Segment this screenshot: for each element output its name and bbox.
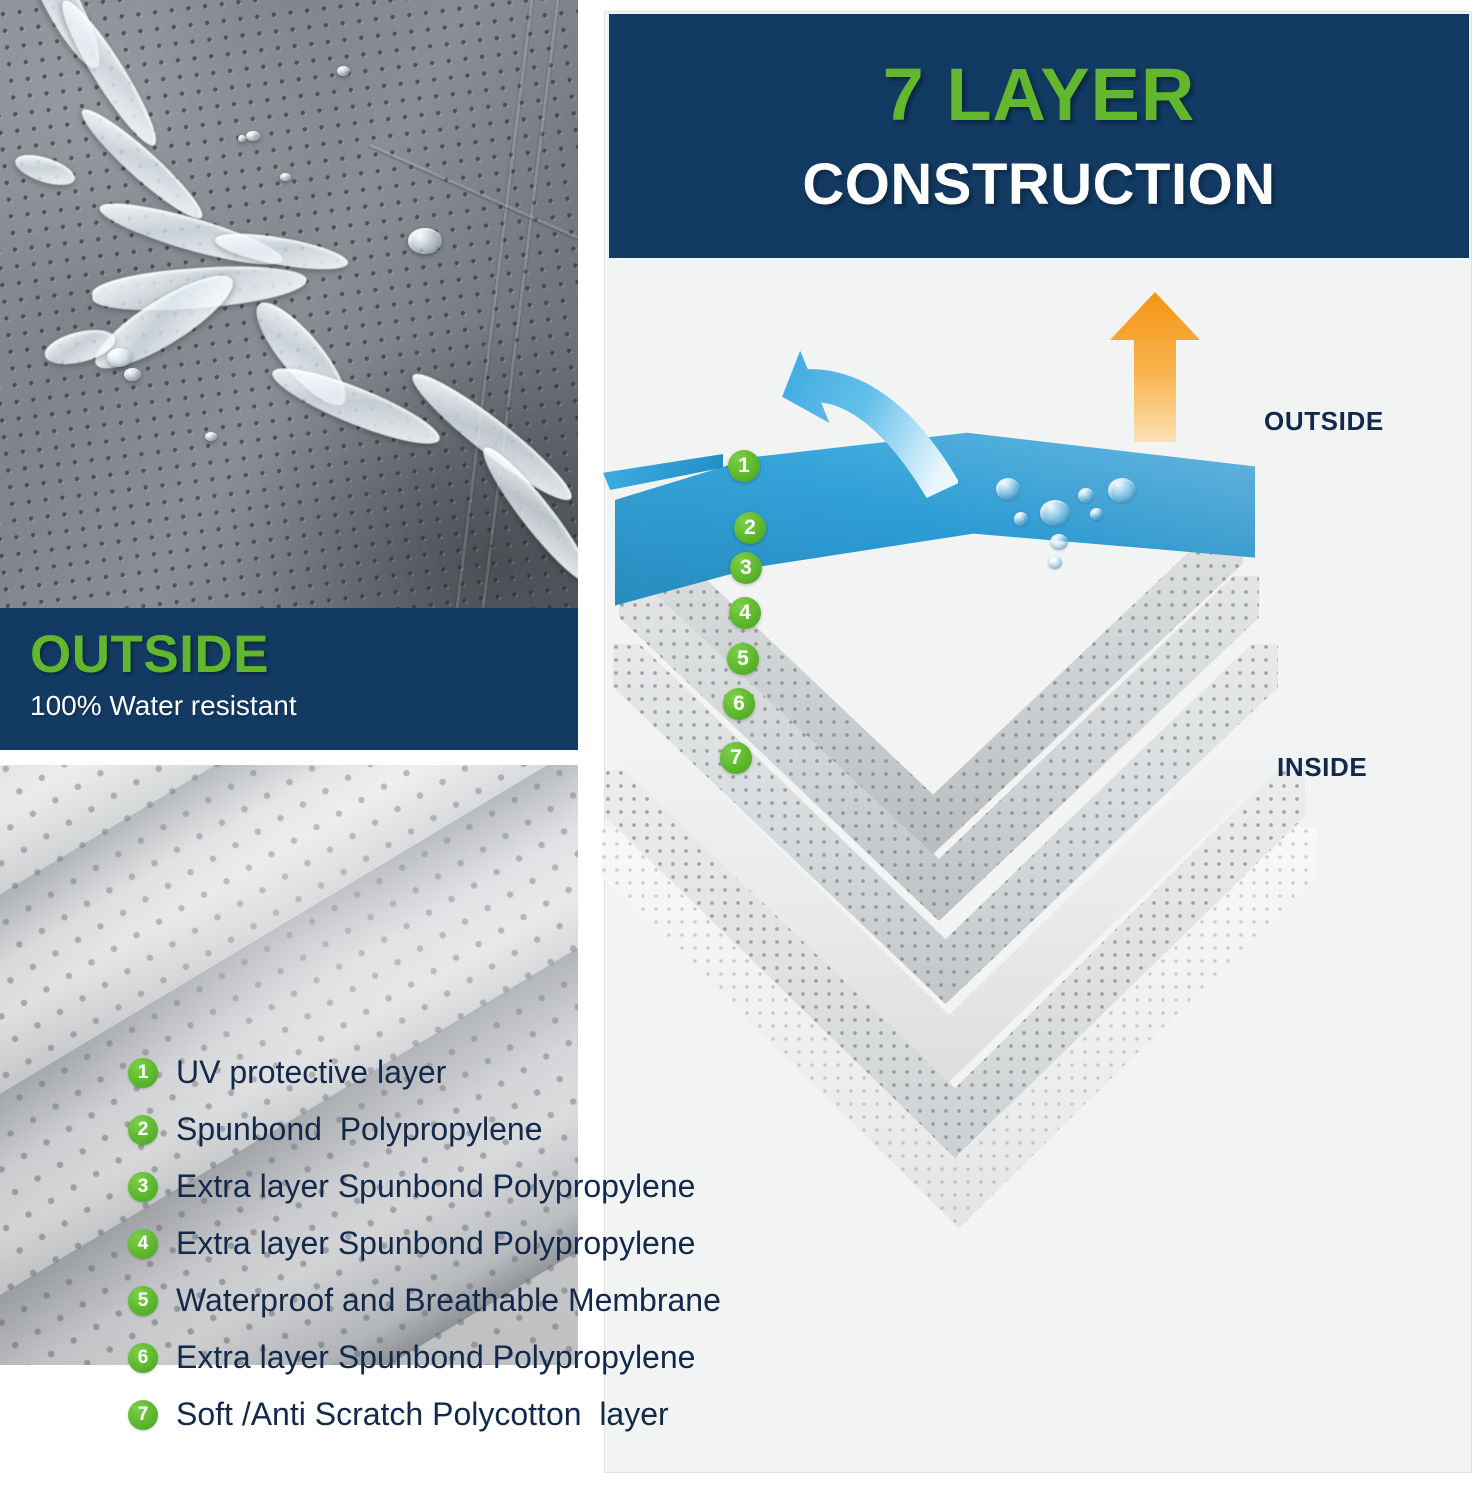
layer-legend-list: 1 UV protective layer 2 Spunbond Polypro… [128,1044,858,1443]
water-repel-arrow-icon [768,318,958,518]
legend-item: 6 Extra layer Spunbond Polypropylene [128,1329,858,1386]
water-bead [408,228,442,254]
diagram-inside-label: INSIDE [1277,752,1367,783]
layer-badge-2: 2 [734,512,766,544]
outside-title: OUTSIDE [30,628,548,681]
water-bead [205,432,217,441]
panel-header: 7 LAYER CONSTRUCTION [609,14,1469,258]
legend-label-6: Extra layer Spunbond Polypropylene [176,1339,695,1376]
header-line-1: 7 LAYER [883,58,1196,132]
legend-label-1: UV protective layer [176,1054,446,1091]
legend-item: 2 Spunbond Polypropylene [128,1101,858,1158]
legend-badge-3: 3 [128,1172,158,1202]
water-bead [246,131,260,141]
water-droplet [1050,534,1068,550]
legend-badge-7: 7 [128,1400,158,1430]
header-line-2: CONSTRUCTION [802,156,1275,214]
layer-badge-5: 5 [727,643,759,675]
water-beading-photo [0,0,578,608]
legend-label-3: Extra layer Spunbond Polypropylene [176,1168,695,1205]
water-droplet [1040,500,1070,526]
legend-item: 3 Extra layer Spunbond Polypropylene [128,1158,858,1215]
water-droplet [1078,488,1094,503]
layer-badge-1: 1 [728,450,760,482]
water-bead [280,173,291,181]
legend-item: 7 Soft /Anti Scratch Polycotton layer [128,1386,858,1443]
legend-badge-1: 1 [128,1058,158,1088]
legend-label-5: Waterproof and Breathable Membrane [176,1282,721,1319]
water-droplet [1108,478,1136,503]
legend-badge-5: 5 [128,1286,158,1316]
legend-label-4: Extra layer Spunbond Polypropylene [176,1225,695,1262]
infographic-page: OUTSIDE 100% Water resistant INSIDE Soft… [0,0,1477,1500]
water-droplet [996,478,1020,500]
layer-badge-7: 7 [720,742,752,774]
layer-badge-6: 6 [723,688,755,720]
water-bead [107,348,132,367]
gray-fabric-texture [0,0,578,608]
legend-label-7: Soft /Anti Scratch Polycotton layer [176,1396,669,1433]
legend-item: 5 Waterproof and Breathable Membrane [128,1272,858,1329]
water-droplet [1014,512,1028,526]
outside-caption: OUTSIDE 100% Water resistant [0,608,578,750]
water-bead [238,135,246,142]
legend-item: 1 UV protective layer [128,1044,858,1101]
legend-badge-6: 6 [128,1343,158,1373]
outside-subtitle: 100% Water resistant [30,690,548,722]
breathability-arrow-icon [1110,292,1200,442]
water-bead [124,368,141,381]
water-bead [337,66,350,76]
legend-label-2: Spunbond Polypropylene [176,1111,543,1148]
legend-item: 4 Extra layer Spunbond Polypropylene [128,1215,858,1272]
legend-badge-4: 4 [128,1229,158,1259]
layer-badge-4: 4 [729,597,761,629]
outside-photo-card: OUTSIDE 100% Water resistant [0,0,578,750]
diagram-outside-label: OUTSIDE [1264,406,1384,437]
layer-badge-3: 3 [730,552,762,584]
water-droplet [1048,556,1062,569]
legend-badge-2: 2 [128,1115,158,1145]
water-droplet [1090,508,1103,520]
